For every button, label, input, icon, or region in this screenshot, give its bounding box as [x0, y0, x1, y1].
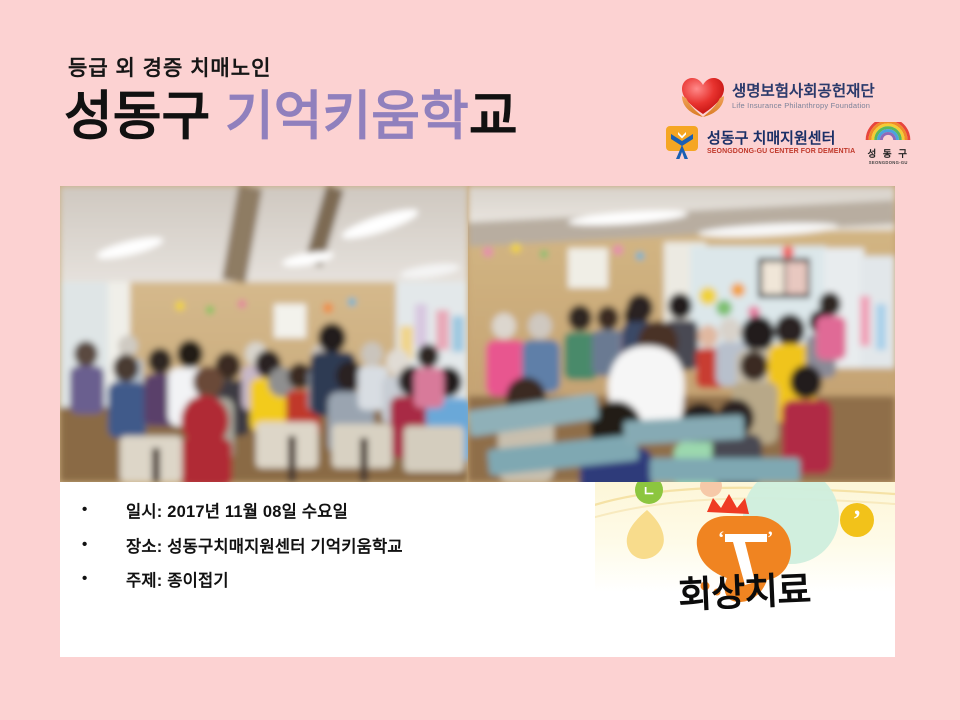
- seongdong-person-icon: [664, 125, 700, 161]
- slide-header: 등급 외 경증 치매노인 성동구 기억키움학교: [0, 0, 960, 186]
- photo-strip: [60, 186, 895, 482]
- logo-seongdong-gu: 성 동 구 SEONGDONG-GU: [863, 122, 913, 164]
- page-title: 성동구 기억키움학교: [64, 88, 518, 146]
- blob-close-quote: ’: [767, 528, 773, 549]
- yellow-circle-letter: ’: [853, 505, 862, 534]
- slide-subtitle: 등급 외 경증 치매노인: [68, 52, 271, 82]
- handwritten-label: 회상치료: [677, 559, 811, 619]
- logo-name-ko: 성동구 치매지원센터: [707, 131, 855, 147]
- list-item: 장소: 성동구치매지원센터 기억키움학교: [126, 539, 403, 556]
- logo-name-en: SEONGDONG-GU: [863, 160, 913, 165]
- logo-life-insurance-foundation: 생명보험사회공헌재단 Life Insurance Philanthropy F…: [680, 76, 875, 118]
- blob-open-quote: ‘: [718, 528, 724, 549]
- list-item: 일시: 2017년 11월 08일 수요일: [126, 504, 403, 521]
- logo-seongdong-dementia-center: 성동구 치매지원센터 SEONGDONG-GU CENTER FOR DEMEN…: [664, 122, 913, 164]
- logo-block: 생명보험사회공헌재단 Life Insurance Philanthropy F…: [664, 76, 904, 176]
- rainbow-icon: [863, 122, 913, 141]
- logo-name-ko: 성 동 구: [863, 146, 913, 160]
- list-item: 주제: 종이접기: [126, 573, 403, 590]
- photo-classroom-left: [60, 186, 468, 482]
- title-part-plain-1: 성동구: [64, 87, 225, 146]
- green-circle-letter: ㄴ: [643, 483, 656, 499]
- title-part-plain-2: 교: [469, 87, 518, 146]
- title-part-accent: 기억키움학: [225, 87, 469, 146]
- detail-list: 일시: 2017년 11월 08일 수요일 장소: 성동구치매지원센터 기억키움…: [70, 504, 403, 608]
- heart-in-hands-icon: [680, 76, 726, 118]
- logo-name-ko: 생명보험사회공헌재단: [732, 84, 875, 100]
- logo-name-en: Life Insurance Philanthropy Foundation: [732, 101, 875, 110]
- photo-classroom-right: [468, 186, 895, 482]
- slide-canvas: 등급 외 경증 치매노인 성동구 기억키움학교: [0, 0, 960, 720]
- logo-name-en: SEONGDONG-GU CENTER FOR DEMENTIA: [707, 148, 855, 155]
